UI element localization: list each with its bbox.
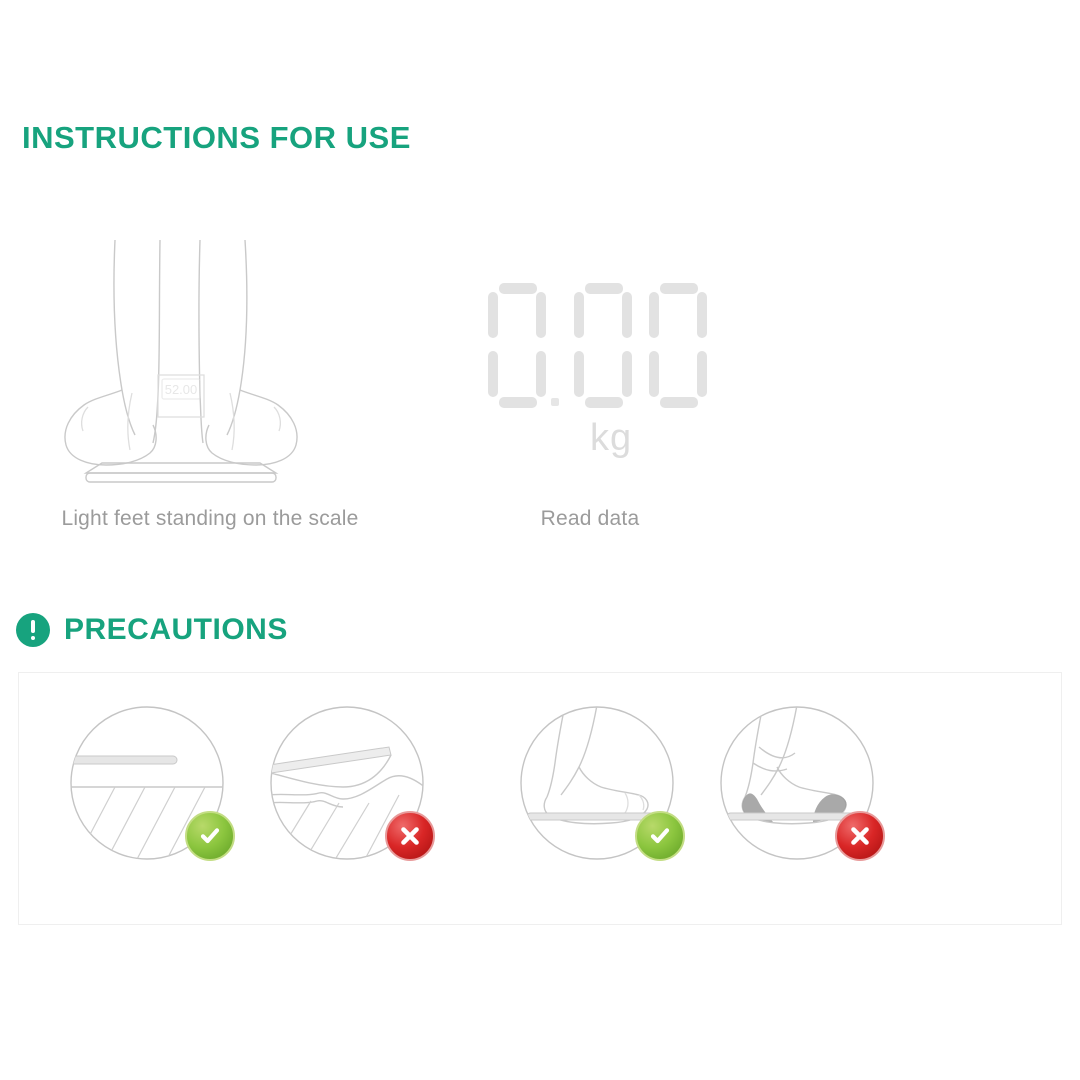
lcd-readout (488, 283, 707, 408)
lcd-decimal-point (551, 398, 559, 406)
cross-circle-icon (385, 811, 435, 861)
lcd-digit-1 (574, 283, 632, 408)
precautions-title: PRECAUTIONS (64, 613, 288, 647)
precautions-header: PRECAUTIONS (16, 613, 288, 647)
precautions-panel (18, 672, 1062, 925)
lcd-unit-label: kg (590, 417, 632, 460)
precaution-item (67, 703, 227, 863)
instruction-step-caption: Light feet standing on the scale (40, 507, 380, 531)
page-title: INSTRUCTIONS FOR USE (22, 120, 411, 156)
instruction-step-read: kg Read data (430, 235, 750, 531)
precaution-item (517, 703, 677, 863)
cross-circle-icon (835, 811, 885, 861)
precaution-item (267, 703, 427, 863)
exclamation-circle-icon (16, 613, 50, 647)
check-circle-icon (185, 811, 235, 861)
instruction-step-feet: 52.00 Light feet standing on the scale (40, 235, 380, 531)
scale-display-value: 52.00 (165, 382, 198, 397)
precaution-item (717, 703, 877, 863)
instruction-step-caption: Read data (430, 507, 750, 531)
lcd-digit-0 (488, 283, 546, 408)
check-circle-icon (635, 811, 685, 861)
lcd-digit-2 (649, 283, 707, 408)
lcd-readout-illustration: kg (430, 235, 750, 485)
feet-on-scale-illustration: 52.00 (40, 235, 380, 485)
